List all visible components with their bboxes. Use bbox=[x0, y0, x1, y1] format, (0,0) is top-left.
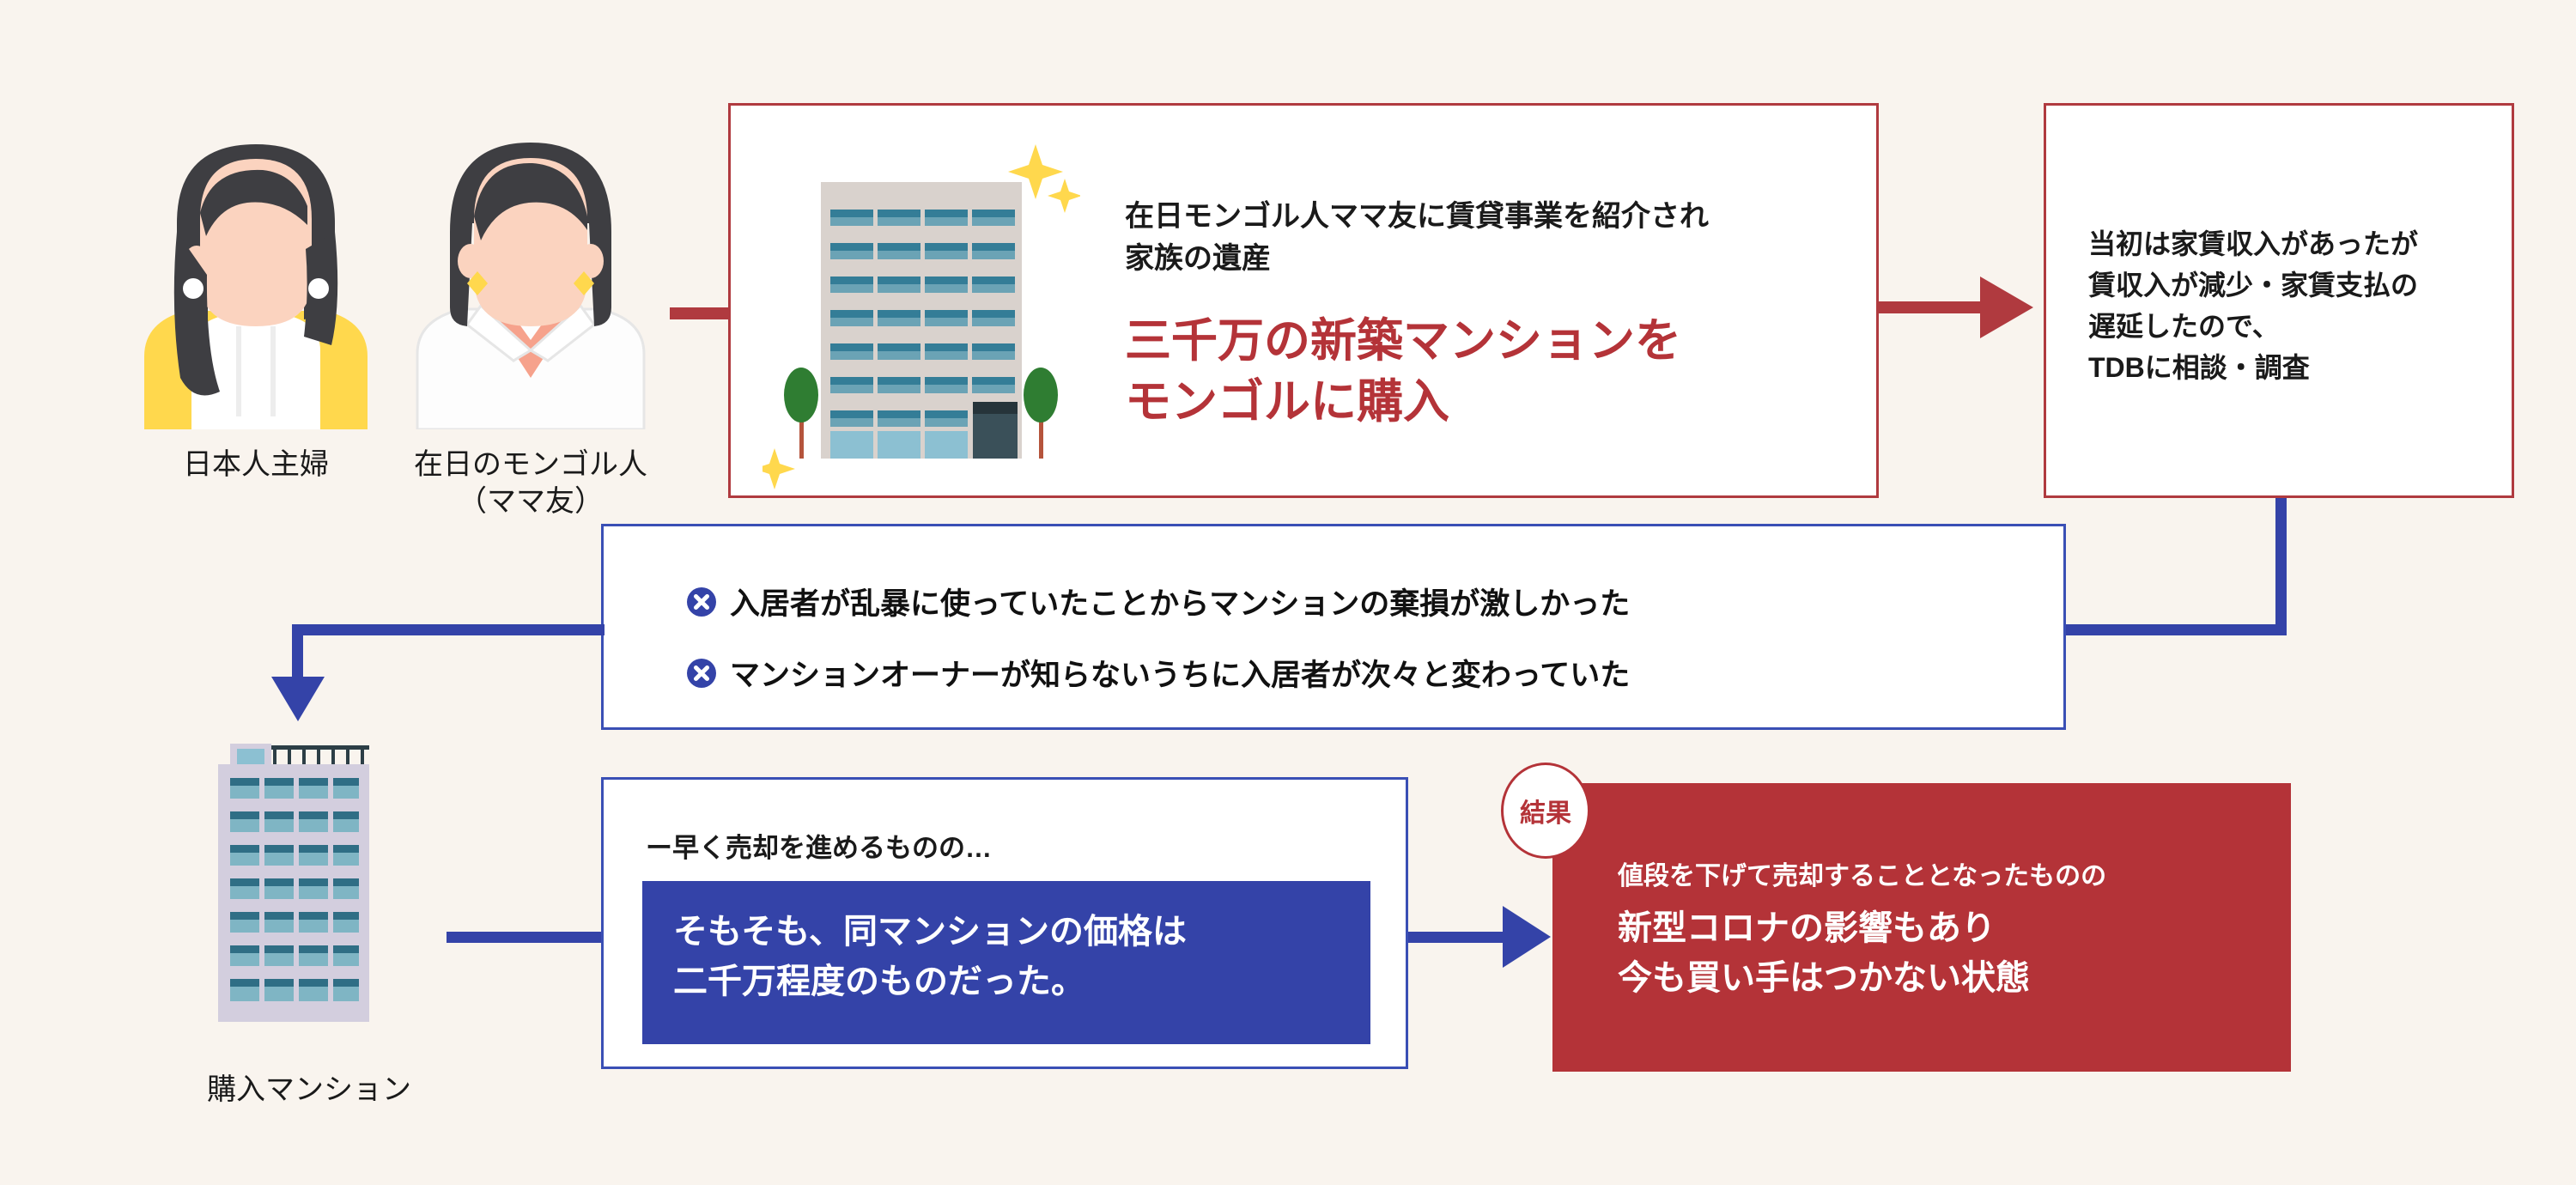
connector-consult-down bbox=[2275, 498, 2287, 635]
avatar-mongolian-mom-friend bbox=[385, 120, 677, 429]
issue-bullet-row-2: マンションオーナーが知らないうちに入居者が次々と変わっていた bbox=[687, 651, 1630, 695]
connector-building-to-sale bbox=[447, 932, 608, 943]
infographic-canvas: 日本人主婦 在日のモンゴル人 （ママ友） bbox=[0, 0, 2576, 1185]
avatar-japanese-housewife bbox=[110, 120, 402, 429]
connector-main-to-consult bbox=[1879, 301, 1989, 313]
consult-box-text: 当初は家賃収入があったが 賃収入が減少・家賃支払の 遅延したので、 TDBに相談… bbox=[2088, 223, 2500, 388]
main-box-small-text: 在日モンゴル人ママ友に賃貸事業を紹介され 家族の遺産 bbox=[1125, 196, 1846, 281]
purchased-building-illustration bbox=[197, 738, 412, 1056]
arrow-head-red-right bbox=[1980, 276, 2033, 338]
result-box-small-text: 値段を下げて売却することとなったものの bbox=[1618, 859, 2106, 895]
apartment-building-illustration bbox=[762, 129, 1080, 489]
circle-x-icon bbox=[687, 659, 716, 688]
main-box-headline: 三千万の新築マンションを モンゴルに購入 bbox=[1125, 311, 1863, 434]
issue-bullet-text-1: 入居者が乱暴に使っていたことからマンションの棄損が激しかった bbox=[730, 580, 1630, 623]
issue-bullet-row-1: 入居者が乱暴に使っていたことからマンションの棄損が激しかった bbox=[687, 580, 1630, 623]
circle-x-icon bbox=[687, 587, 716, 617]
arrow-head-blue-right bbox=[1503, 906, 1551, 968]
connector-issues-left bbox=[292, 624, 605, 635]
connector-consult-left bbox=[2061, 624, 2287, 635]
person-label-mongolian-mom-friend: 在日のモンゴル人 （ママ友） bbox=[368, 447, 694, 520]
sale-price-panel-text: そもそも、同マンションの価格は 二千万程度のものだった。 bbox=[673, 907, 1360, 1006]
result-badge: 結果 bbox=[1501, 763, 1590, 859]
connector-issues-down bbox=[292, 624, 303, 681]
purchased-building-label: 購入マンション bbox=[137, 1072, 481, 1109]
issue-bullet-text-2: マンションオーナーが知らないうちに入居者が次々と変わっていた bbox=[730, 651, 1630, 695]
result-box-big-text: 新型コロナの影響もあり 今も買い手はつかない状態 bbox=[1618, 903, 2270, 1003]
issues-box bbox=[601, 524, 2066, 730]
sale-box-lead: ー早く売却を進めるものの… bbox=[646, 826, 992, 865]
connector-sale-to-result bbox=[1408, 932, 1511, 943]
arrow-head-blue-down bbox=[271, 677, 325, 721]
